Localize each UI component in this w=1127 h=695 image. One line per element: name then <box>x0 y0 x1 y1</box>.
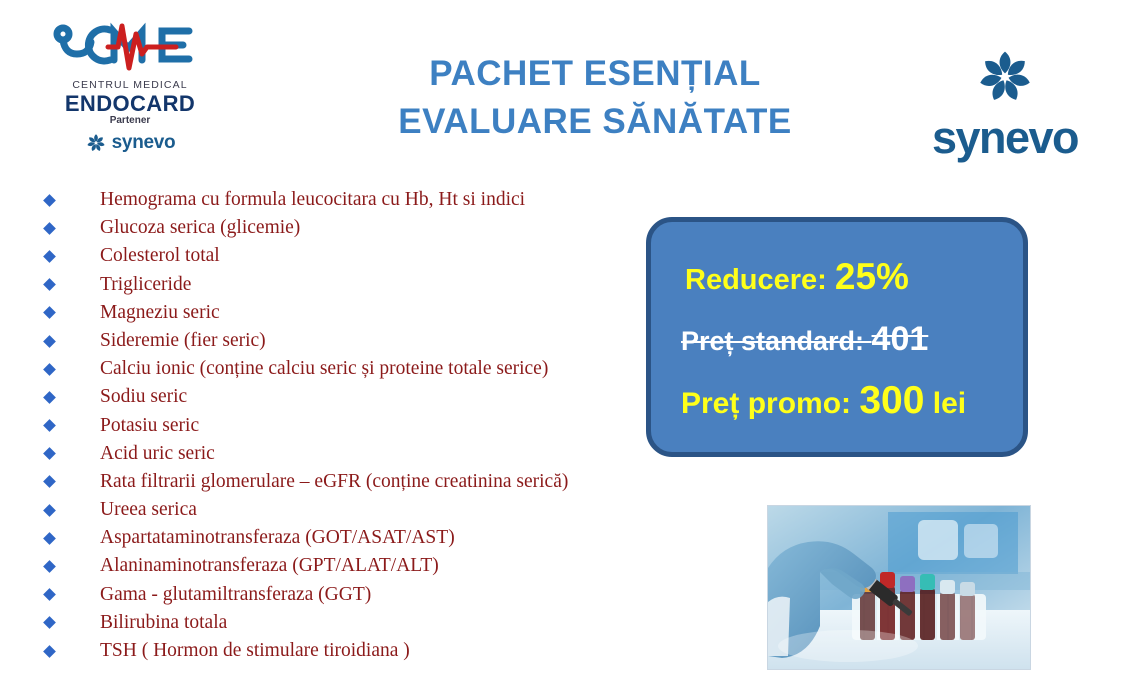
title-line-1: PACHET ESENȚIAL <box>330 50 860 98</box>
endocard-synevo-label: synevo <box>112 132 176 154</box>
list-item: Glucoza serica (glicemie) <box>36 214 686 242</box>
diamond-bullet-icon <box>43 306 56 319</box>
list-item: Rata filtrarii glomerulare – eGFR (conți… <box>36 468 686 496</box>
diamond-bullet-icon <box>43 447 56 460</box>
endocard-partener-label: Partener <box>44 115 216 126</box>
list-item: Alaninaminotransferaza (GPT/ALAT/ALT) <box>36 552 686 580</box>
synevo-flower-icon <box>85 132 107 154</box>
list-item-label: Magneziu seric <box>100 302 220 323</box>
diamond-bullet-icon <box>43 476 56 489</box>
diamond-bullet-icon <box>43 222 56 235</box>
discount-value: 25% <box>835 256 909 297</box>
list-item: Gama - glutamiltransferaza (GGT) <box>36 581 686 609</box>
diamond-bullet-icon <box>43 588 56 601</box>
promo-price-line: Preț promo: 300 lei <box>651 379 1023 423</box>
endocard-synevo-row: synevo <box>44 132 216 154</box>
list-item: Ureea serica <box>36 496 686 524</box>
laboratory-blood-sample-photo <box>767 505 1031 670</box>
list-item-label: Colesterol total <box>100 245 220 266</box>
price-callout-box: Reducere: 25% Preț standard: 401 Preț pr… <box>646 217 1028 457</box>
diamond-bullet-icon <box>43 278 56 291</box>
list-item-label: Aspartataminotransferaza (GOT/ASAT/AST) <box>100 527 455 548</box>
discount-line: Reducere: 25% <box>651 256 1023 298</box>
synevo-flower-icon <box>976 48 1034 106</box>
list-item: Trigliceride <box>36 271 686 299</box>
list-item-label: Trigliceride <box>100 274 191 295</box>
diamond-bullet-icon <box>43 617 56 630</box>
list-item: Colesterol total <box>36 242 686 270</box>
diamond-bullet-icon <box>43 194 56 207</box>
slide-title: PACHET ESENȚIAL EVALUARE SĂNĂTATE <box>330 50 860 147</box>
list-item-label: Gama - glutamiltransferaza (GGT) <box>100 584 371 605</box>
list-item: Sodiu seric <box>36 383 686 411</box>
endocard-partner-logo: CENTRUL MEDICAL ENDOCARD Partener s <box>44 14 216 154</box>
list-item: Acid uric seric <box>36 440 686 468</box>
service-list: Hemograma cu formula leucocitara cu Hb, … <box>36 186 686 665</box>
diamond-bullet-icon <box>43 250 56 263</box>
list-item: Bilirubina totala <box>36 609 686 637</box>
synevo-brand-logo: synevo <box>900 48 1110 160</box>
diamond-bullet-icon <box>43 504 56 517</box>
diamond-bullet-icon <box>43 419 56 432</box>
standard-price-line: Preț standard: 401 <box>651 320 1023 359</box>
diamond-bullet-icon <box>43 363 56 376</box>
list-item: Potasiu seric <box>36 412 686 440</box>
list-item-label: Ureea serica <box>100 499 197 520</box>
list-item-label: Glucoza serica (glicemie) <box>100 217 300 238</box>
list-item-label: Sodiu seric <box>100 386 187 407</box>
slide-header: CENTRUL MEDICAL ENDOCARD Partener s <box>0 0 1127 178</box>
promo-price-value: 300 <box>859 379 924 422</box>
list-item: Sideremie (fier seric) <box>36 327 686 355</box>
list-item-label: Bilirubina totala <box>100 612 227 633</box>
list-item-label: Hemograma cu formula leucocitara cu Hb, … <box>100 189 525 210</box>
list-item-label: Rata filtrarii glomerulare – eGFR (conți… <box>100 471 568 492</box>
list-item-label: Alaninaminotransferaza (GPT/ALAT/ALT) <box>100 555 439 576</box>
cme-stethoscope-ecg-logo <box>50 14 210 76</box>
list-item: Hemograma cu formula leucocitara cu Hb, … <box>36 186 686 214</box>
standard-price-label: Preț standard: <box>681 326 872 356</box>
promo-price-label: Preț promo: <box>681 387 859 420</box>
list-item-label: Calciu ionic (conține calciu seric și pr… <box>100 358 548 379</box>
list-item-label: Acid uric seric <box>100 443 215 464</box>
list-item-label: Sideremie (fier seric) <box>100 330 266 351</box>
diamond-bullet-icon <box>43 391 56 404</box>
list-item-label: TSH ( Hormon de stimulare tiroidiana ) <box>100 640 410 661</box>
endocard-centrul-medical-label: CENTRUL MEDICAL <box>44 79 216 91</box>
diamond-bullet-icon <box>43 335 56 348</box>
standard-price-value: 401 <box>872 320 929 358</box>
diamond-bullet-icon <box>43 645 56 658</box>
list-item-label: Potasiu seric <box>100 415 199 436</box>
synevo-wordmark: synevo <box>900 115 1110 160</box>
diamond-bullet-icon <box>43 532 56 545</box>
endocard-name-label: ENDOCARD <box>44 92 216 115</box>
diamond-bullet-icon <box>43 560 56 573</box>
title-line-2: EVALUARE SĂNĂTATE <box>330 98 860 146</box>
list-item: Magneziu seric <box>36 299 686 327</box>
discount-label: Reducere: <box>685 264 835 296</box>
list-item: Aspartataminotransferaza (GOT/ASAT/AST) <box>36 524 686 552</box>
promo-price-currency: lei <box>924 387 966 420</box>
list-item: TSH ( Hormon de stimulare tiroidiana ) <box>36 637 686 665</box>
list-item: Calciu ionic (conține calciu seric și pr… <box>36 355 686 383</box>
